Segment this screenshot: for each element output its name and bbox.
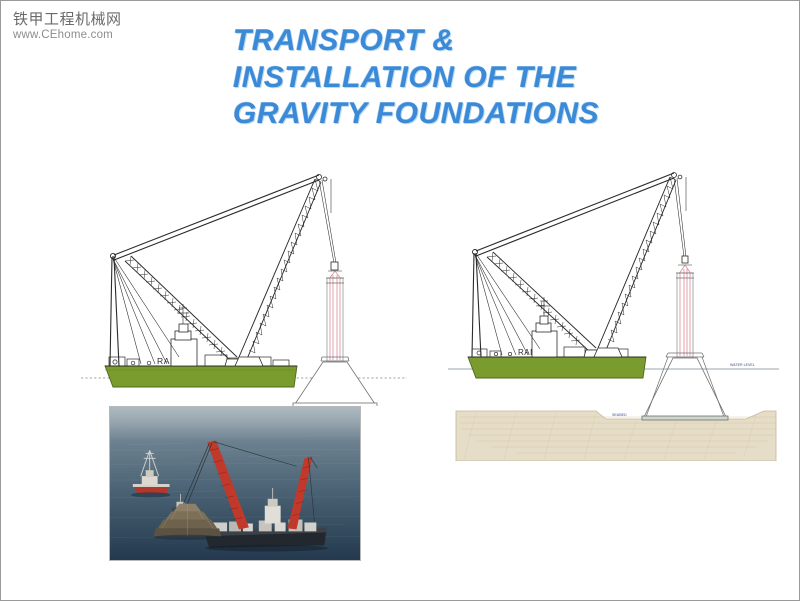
foundation-splay-legs — [646, 357, 724, 417]
crane-a-frame-mast — [472, 253, 481, 357]
watermark-site-name: 铁甲工程机械网 — [13, 11, 122, 28]
bridge-superstructure — [171, 324, 197, 366]
foundation-base-slab — [642, 416, 728, 420]
bridge-superstructure — [532, 316, 557, 357]
hook-block — [682, 256, 688, 263]
watermark: 铁甲工程机械网 www.CEhome.com — [13, 11, 122, 42]
title-line-1: TRANSPORT & — [233, 23, 693, 60]
seabed-label: SEABED — [612, 413, 627, 417]
slide-title: TRANSPORT & INSTALLATION OF THE GRAVITY … — [233, 23, 693, 133]
foundation-conical-base — [644, 358, 726, 417]
hoist-falls — [674, 177, 686, 257]
boom-pendant-upper — [114, 175, 319, 260]
title-line-2: INSTALLATION OF THE — [233, 60, 693, 97]
foundation-conical-base — [295, 362, 375, 404]
diagram-installation-configuration: SEABED WATER LEVEL RAMBIZ — [446, 161, 781, 461]
vessel-hull — [468, 357, 646, 378]
second-lattice-boom — [594, 177, 676, 357]
hook-block — [331, 262, 338, 270]
gravity-foundation — [642, 265, 728, 420]
crane-guy-wires — [475, 255, 540, 355]
bridge-mast — [177, 304, 189, 324]
slide-canvas: 铁甲工程机械网 www.CEhome.com TRANSPORT & INSTA… — [0, 0, 800, 601]
crane-guy-wires — [113, 259, 179, 364]
offshore-installation-photo — [109, 406, 361, 561]
diagram-transport-configuration: RAMBIZ — [79, 161, 409, 406]
waterline-label: WATER LEVEL — [730, 363, 755, 367]
crane-a-frame-mast — [110, 257, 119, 366]
vessel-hull — [105, 366, 297, 387]
second-lattice-boom — [235, 179, 321, 366]
watermark-site-url: www.CEhome.com — [13, 29, 122, 42]
hoist-falls — [319, 179, 336, 263]
gravity-foundation — [293, 271, 377, 406]
boom-pendant-upper — [476, 173, 674, 256]
title-line-3: GRAVITY FOUNDATIONS — [233, 96, 693, 133]
